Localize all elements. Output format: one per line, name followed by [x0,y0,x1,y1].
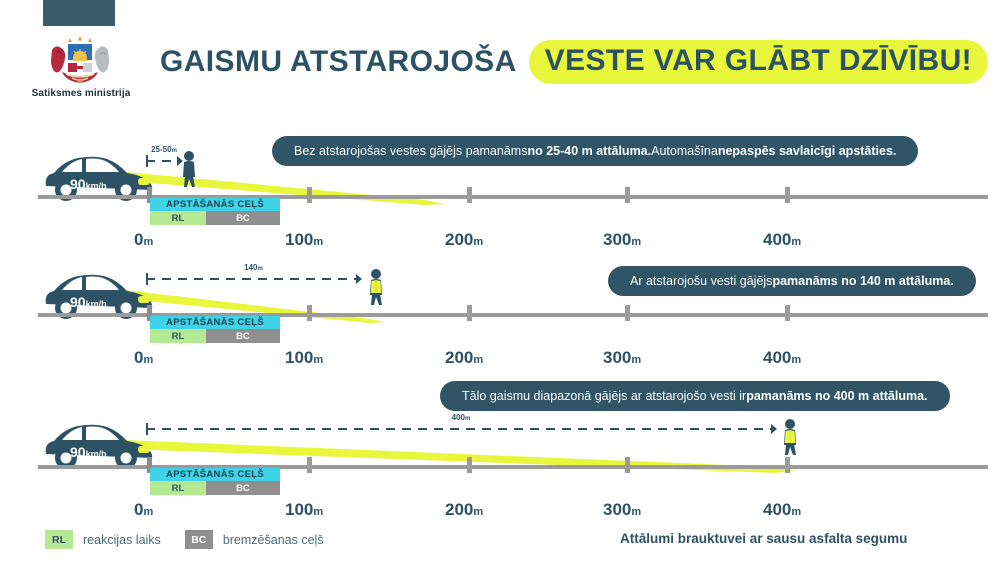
axis-tick-200 [467,187,472,203]
axis-label-200-unit: m [473,236,483,248]
visibility-measure: 400m [146,422,776,436]
measure-dashes [146,428,776,430]
legend: RL reakcijas laiks BC bremzēšanas ceļš [45,530,338,549]
measure-dashes [146,278,361,280]
stopbar-reaction-segment: RL [150,329,206,343]
axis-label-400: 400m [763,500,801,520]
axis-label-400-unit: m [791,354,801,366]
page-title-highlight: VESTE VAR GLĀBT DZĪVĪBU! [529,40,988,84]
banner-3-bold-1: pamanāms no 400 m attāluma. [746,389,927,403]
axis-label-200: 200m [445,500,483,520]
axis-label-300: 300m [603,500,641,520]
axis-tick-300 [625,305,630,321]
measure-value: 400m [450,413,473,422]
axis-tick-100 [307,457,312,473]
speed-value: 90 [70,176,86,192]
speed-unit: km/h [86,299,107,309]
axis-label-200-value: 200 [445,230,473,249]
measure-number: 140 [244,263,257,272]
axis-label-100-unit: m [313,236,323,248]
axis-label-300-value: 300 [603,500,631,519]
callout-banner-3: Tālo gaismu diapazonā gājējs ar atstaroj… [440,381,950,411]
stopping-distance-bar: APSTĀŠANĀS CEĻŠ RL BC [150,198,280,225]
axis-label-0-unit: m [143,506,153,518]
axis-label-400-value: 400 [763,500,791,519]
axis-label-400: 400m [763,230,801,250]
axis-label-100: 100m [285,230,323,250]
axis-label-400-unit: m [791,236,801,248]
axis-tick-300 [625,187,630,203]
axis-label-200-unit: m [473,354,483,366]
scene-vest-low-beam: 90km/h 140m APSTĀŠANĀS CEĻŠ RL BC 0m 100… [0,258,1000,368]
axis-label-300-value: 300 [603,230,631,249]
axis-label-200: 200m [445,348,483,368]
axis-label-200-value: 200 [445,500,473,519]
axis-tick-100 [307,305,312,321]
scene-vest-high-beam: 90km/h 400m APSTĀŠANĀS CEĻŠ RL BC 0m 100… [0,408,1000,520]
pedestrian-icon [177,150,201,194]
speed-unit: km/h [86,449,107,459]
ministry-name: Satiksmes ministrija [28,88,134,99]
stopbar-braking-segment: BC [206,329,280,343]
axis-label-0: 0m [134,348,153,368]
axis-label-400-unit: m [791,506,801,518]
measure-value: 25-50m [149,145,179,154]
measure-value: 140m [242,263,265,272]
axis-label-100: 100m [285,500,323,520]
stopbar-title: APSTĀŠANĀS CEĻŠ [150,198,280,211]
footer-note: Attālumi brauktuvei ar sausu asfalta seg… [620,531,907,546]
stopbar-reaction-segment: RL [150,211,206,225]
axis-label-400: 400m [763,348,801,368]
speed-label: 90km/h [70,176,107,192]
measure-arrowhead-icon [771,424,777,434]
axis-label-300-unit: m [631,236,641,248]
axis-label-100-value: 100 [285,500,313,519]
measure-unit: m [465,416,470,422]
stopbar-title: APSTĀŠANĀS CEĻŠ [150,316,280,329]
banner-3-text-1: Tālo gaismu diapazonā gājējs ar atstaroj… [462,389,746,403]
flag-bar-icon [43,0,115,26]
axis-label-0: 0m [134,500,153,520]
axis-label-300-value: 300 [603,348,631,367]
axis-label-100-unit: m [313,506,323,518]
legend-label-bc: bremzēšanas ceļš [223,533,324,547]
axis-label-400-value: 400 [763,348,791,367]
axis-tick-200 [467,305,472,321]
axis-label-0: 0m [134,230,153,250]
axis-label-0-unit: m [143,354,153,366]
speed-value: 90 [70,444,86,460]
axis-tick-300 [625,457,630,473]
axis-label-300: 300m [603,348,641,368]
axis-label-200: 200m [445,230,483,250]
pedestrian-with-vest-icon [364,268,388,312]
axis-label-100-value: 100 [285,230,313,249]
measure-unit: m [258,266,263,272]
axis-label-300: 300m [603,230,641,250]
axis-tick-400 [785,187,790,203]
legend-chip-bc: BC [185,530,213,549]
stopping-distance-bar: APSTĀŠANĀS CEĻŠ RL BC [150,468,280,495]
visibility-measure: 140m [146,272,361,286]
measure-number: 25-50 [151,145,171,154]
pedestrian-with-vest-icon [778,418,802,462]
axis-label-400-value: 400 [763,230,791,249]
speed-unit: km/h [86,181,107,191]
axis-label-200-unit: m [473,506,483,518]
axis-label-100: 100m [285,348,323,368]
axis-label-300-unit: m [631,506,641,518]
stopbar-braking-segment: BC [206,481,280,495]
stopping-distance-bar: APSTĀŠANĀS CEĻŠ RL BC [150,316,280,343]
page-title-plain: GAISMU ATSTAROJOŠA [160,45,517,79]
axis-tick-400 [785,305,790,321]
legend-chip-rl: RL [45,530,73,549]
measure-arrowhead-icon [356,274,362,284]
axis-label-100-value: 100 [285,348,313,367]
speed-label: 90km/h [70,444,107,460]
scene-no-vest: 90km/h 25-50m APSTĀŠANĀS CEĻŠ RL BC 0m 1… [0,140,1000,250]
coat-of-arms-icon [44,34,116,84]
stopbar-title: APSTĀŠANĀS CEĻŠ [150,468,280,481]
axis-tick-200 [467,457,472,473]
axis-tick-100 [307,187,312,203]
axis-tick-400 [785,457,790,473]
speed-value: 90 [70,294,86,310]
header: Satiksmes ministrija GAISMU ATSTAROJOŠA … [0,0,1000,120]
page-title: GAISMU ATSTAROJOŠA VESTE VAR GLĀBT DZĪVĪ… [160,40,988,84]
axis-label-300-unit: m [631,354,641,366]
measure-number: 400 [452,413,465,422]
stopbar-reaction-segment: RL [150,481,206,495]
axis-label-100-unit: m [313,354,323,366]
car-icon: 90km/h [38,414,158,472]
stopbar-braking-segment: BC [206,211,280,225]
speed-label: 90km/h [70,294,107,310]
axis-label-0-unit: m [143,236,153,248]
legend-label-rl: reakcijas laiks [83,533,161,547]
axis-label-200-value: 200 [445,348,473,367]
